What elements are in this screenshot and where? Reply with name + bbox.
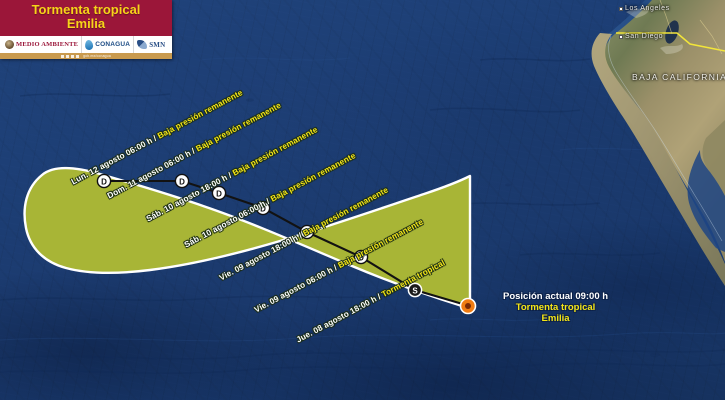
track-label-2-status: Baja presión remanente: [302, 185, 390, 238]
track-label-1: Vie. 09 agosto 06:00 h / Baja presión re…: [253, 217, 425, 314]
storm-title-line1: Tormenta tropical: [6, 3, 166, 17]
track-label-0-date: Jue. 08 agosto 18:00 h /: [295, 291, 385, 344]
track-label-2-date: Vie. 09 agosto 18:00 h /: [218, 230, 306, 282]
header-banner: Tormenta tropical Emilia MEDIO AMBIENTE …: [0, 0, 172, 59]
track-label-6: Lun. 12 agosto 06:00 h / Baja presión re…: [70, 88, 244, 186]
storm-title-line2: Emilia: [6, 17, 166, 31]
logo-smn: SMN: [133, 36, 168, 53]
track-label-1-status: Baja presión remanente: [337, 217, 425, 270]
twitter-icon[interactable]: [66, 55, 69, 58]
track-label-5-date: Dom. 11 agosto 06:00 h /: [106, 145, 199, 200]
track-label-3: Sáb. 10 agosto 06:00 h / Baja presión re…: [183, 151, 357, 249]
logo-smn-label: SMN: [149, 41, 165, 49]
logo-conagua: CONAGUA: [81, 36, 133, 53]
track-label-6-status: Baja presión remanente: [156, 88, 244, 141]
track-label-4-status: Baja presión remanente: [231, 125, 319, 178]
youtube-icon[interactable]: [76, 55, 79, 58]
track-label-4: Sáb. 10 agosto 18:00 h / Baja presión re…: [145, 125, 319, 223]
track-label-2: Vie. 09 agosto 18:00 h / Baja presión re…: [218, 185, 390, 282]
logo-conagua-label: CONAGUA: [95, 41, 130, 48]
track-label-0: Jue. 08 agosto 18:00 h / Tormenta tropic…: [295, 258, 447, 344]
logo-medio-ambiente-label: MEDIO AMBIENTE: [16, 41, 78, 48]
social-handle: gob.mx/conagua: [83, 54, 111, 58]
track-label-0-status: Tormenta tropical: [380, 258, 446, 299]
track-label-4-date: Sáb. 10 agosto 18:00 h /: [145, 170, 235, 224]
track-label-3-status: Baja presión remanente: [269, 151, 357, 204]
smn-logo-icon: [137, 40, 147, 49]
agency-logo-bar: MEDIO AMBIENTE CONAGUA SMN: [0, 36, 172, 53]
instagram-icon[interactable]: [71, 55, 74, 58]
hurricane-track-map: Los Angeles San Diego BAJA CALIFORNIA S …: [0, 0, 725, 400]
track-label-1-date: Vie. 09 agosto 06:00 h /: [253, 262, 341, 314]
track-label-layer: Jue. 08 agosto 18:00 h / Tormenta tropic…: [0, 0, 725, 400]
track-label-5: Dom. 11 agosto 06:00 h / Baja presión re…: [106, 101, 283, 201]
water-drop-icon: [85, 39, 94, 50]
social-media-bar: gob.mx/conagua: [0, 53, 172, 59]
logo-medio-ambiente: MEDIO AMBIENTE: [2, 36, 81, 53]
storm-title: Tormenta tropical Emilia: [0, 0, 172, 36]
track-label-3-date: Sáb. 10 agosto 06:00 h /: [183, 196, 273, 250]
mexico-eagle-seal-icon: [5, 40, 14, 49]
track-label-6-date: Lun. 12 agosto 06:00 h /: [70, 133, 160, 187]
facebook-icon[interactable]: [61, 55, 64, 58]
track-label-5-status: Baja presión remanente: [194, 101, 282, 154]
